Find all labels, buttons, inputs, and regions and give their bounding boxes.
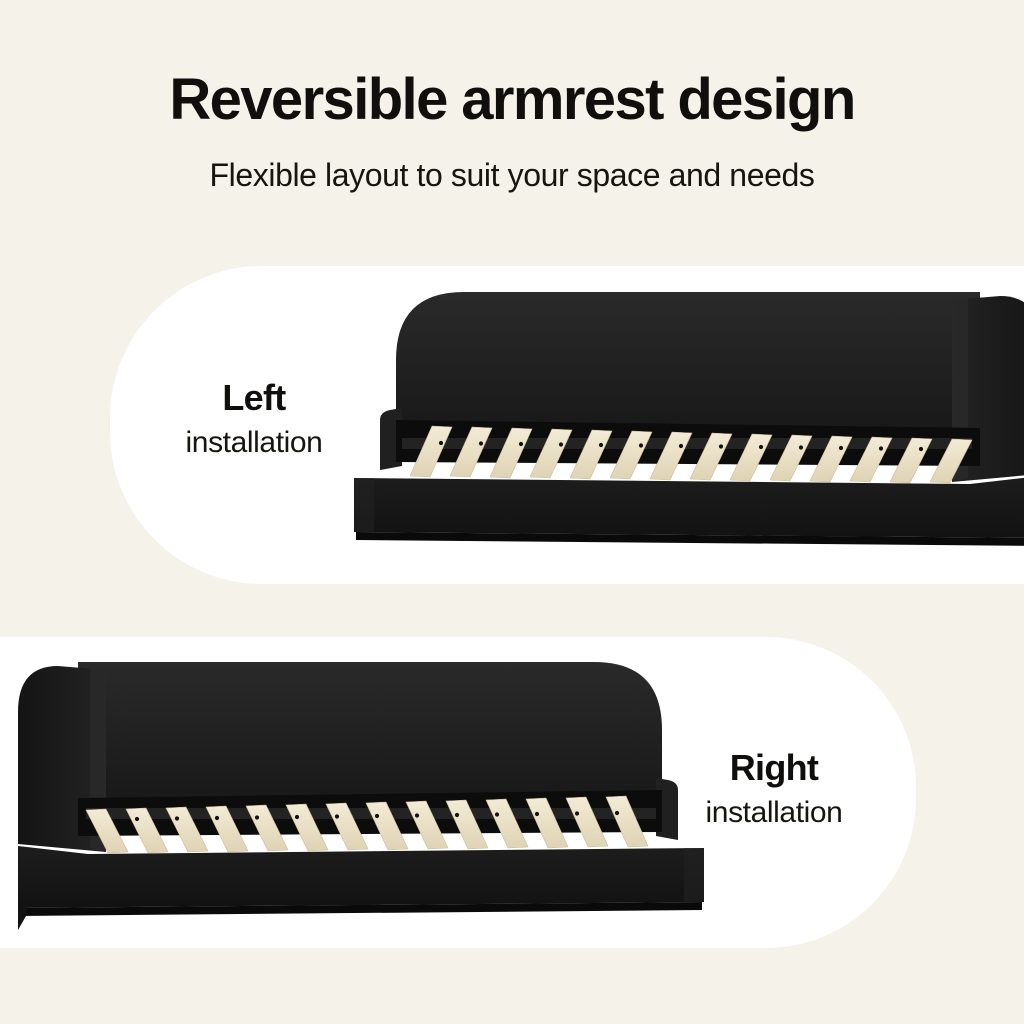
daybed-illustration-right-armrest bbox=[18, 640, 718, 940]
daybed-illustration-left-armrest bbox=[340, 270, 1024, 570]
label-left-installation: Left installation bbox=[142, 378, 366, 459]
page-title: Reversible armrest design bbox=[0, 70, 1024, 131]
label-right-installation: Right installation bbox=[662, 748, 886, 829]
label-right-sub: installation bbox=[662, 796, 886, 829]
label-left-sub: installation bbox=[142, 426, 366, 459]
header: Reversible armrest design Flexible layou… bbox=[0, 0, 1024, 194]
page-subtitle: Flexible layout to suit your space and n… bbox=[0, 157, 1024, 194]
label-right-strong: Right bbox=[662, 748, 886, 788]
label-left-strong: Left bbox=[142, 378, 366, 418]
